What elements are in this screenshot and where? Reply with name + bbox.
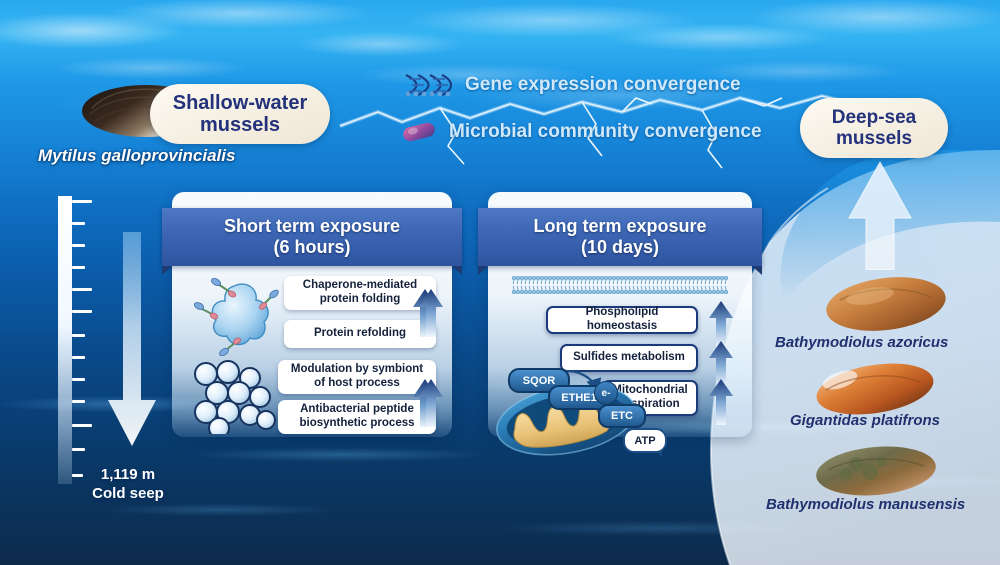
short-term-title-line2: (6 hours) [273,237,350,258]
microbial-convergence-label: Microbial community convergence [449,121,762,143]
species-caption-platifrons: Gigantidas platifrons [790,412,940,429]
depth-habitat: Cold seep [68,485,188,504]
depth-value: 1,119 m [68,466,188,485]
microbial-convergence-row: Microbial community convergence [400,120,762,144]
figure-canvas: Shallow-water mussels Mytilus galloprovi… [0,0,1000,565]
chaperone-protein-icon [194,274,284,356]
shallow-label-line1: Shallow-water [173,92,307,114]
deep-label-line1: Deep-sea [832,107,917,128]
depth-ruler [58,196,72,484]
process-label-line2: biosynthetic process [299,417,414,431]
phospholipid-bilayer-icon [512,274,728,296]
process-label-line1: Modulation by symbiont [291,363,423,377]
process-label-line1: Antibacterial peptide [299,403,414,417]
long-term-title: Long term exposure (10 days) [478,208,762,266]
pathway-node-etc: ETC [598,404,646,428]
pathway-node-atp: ATP [623,428,667,453]
deep-label-line2: mussels [832,128,917,149]
dna-icon [400,72,456,98]
long-term-title-line2: (10 days) [581,237,659,258]
convergence-up-arrow [845,160,915,270]
process-label-line1: Phospholipid homeostasis [554,306,690,333]
up-arrow-short-outer-2 [418,378,444,428]
panel-short-term-exposure: Short term exposure (6 hours) [172,192,452,437]
process-label-line1: Protein refolding [314,327,406,341]
shallow-label-line2: mussels [173,114,307,136]
bathymodiolus-azoricus-image [822,272,950,336]
long-term-title-line1: Long term exposure [533,216,706,237]
deep-sea-mussels-label: Deep-sea mussels [800,98,948,158]
short-term-title: Short term exposure (6 hours) [162,208,462,266]
up-arrow-short-outer-1 [418,288,444,338]
mytilus-species-caption: Mytilus galloprovincialis [38,146,235,166]
process-label-line1: Chaperone-mediated [303,279,417,293]
short-term-title-line1: Short term exposure [224,216,400,237]
process-box-phospholipid-homeostasis: Phospholipid homeostasis [546,306,698,334]
descend-arrow [104,232,160,454]
symbiont-bacteria-icon [190,360,282,434]
gene-convergence-row: Gene expression convergence [400,72,741,98]
shallow-water-mussels-label: Shallow-water mussels [150,84,330,144]
bacterium-icon [400,120,440,144]
gigantidas-platifrons-image [812,358,938,420]
bathymodiolus-manusensis-image [812,440,940,502]
species-caption-manusensis: Bathymodiolus manusensis [766,496,965,513]
electron-label: e- [594,381,618,405]
gene-convergence-label: Gene expression convergence [465,74,741,96]
species-caption-azoricus: Bathymodiolus azoricus [775,334,948,351]
up-arrow-long-3 [708,378,734,426]
depth-label: 1,119 m Cold seep [68,466,188,504]
process-label-line2: of host process [291,377,423,391]
process-label-line2: protein folding [303,293,417,307]
